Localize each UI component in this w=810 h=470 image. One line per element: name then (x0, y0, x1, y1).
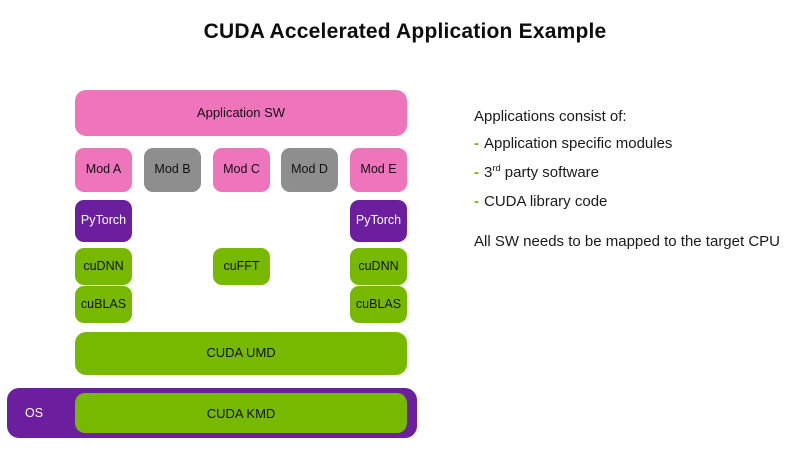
block-pytorch-right: PyTorch (350, 200, 407, 242)
block-os-container: OS CUDA KMD (7, 388, 417, 438)
page-title: CUDA Accelerated Application Example (0, 20, 810, 44)
block-application-sw: Application SW (75, 90, 407, 136)
list-item: -Application specific modules (474, 135, 810, 152)
bullet-dash-icon: - (474, 193, 479, 210)
block-cudnn-left: cuDNN (75, 248, 132, 285)
notes-lead: Applications consist of: (474, 108, 810, 125)
bullet-text: Application specific modules (484, 135, 672, 152)
notes-panel: Applications consist of: -Application sp… (474, 108, 810, 250)
block-os-label: OS (25, 388, 43, 438)
list-item: -3rd party software (474, 164, 810, 181)
block-cublas-right: cuBLAS (350, 286, 407, 323)
block-cuda-kmd: CUDA KMD (75, 393, 407, 433)
bullet-dash-icon: - (474, 135, 479, 152)
slide-canvas: CUDA Accelerated Application Example App… (0, 0, 810, 470)
notes-closing-text: All SW needs to be mapped to the target … (474, 233, 810, 250)
block-module-e: Mod E (350, 148, 407, 192)
block-cudnn-right: cuDNN (350, 248, 407, 285)
bullet-dash-icon: - (474, 164, 479, 181)
ordinal-superscript: rd (492, 163, 500, 173)
block-module-d: Mod D (281, 148, 338, 192)
list-item: -CUDA library code (474, 193, 810, 210)
block-module-a: Mod A (75, 148, 132, 192)
block-pytorch-left: PyTorch (75, 200, 132, 242)
block-module-b: Mod B (144, 148, 201, 192)
block-cufft: cuFFT (213, 248, 270, 285)
notes-bullet-list: -Application specific modules -3rd party… (474, 135, 810, 210)
block-cuda-umd: CUDA UMD (75, 332, 407, 375)
bullet-text-after: party software (501, 164, 599, 181)
block-module-c: Mod C (213, 148, 270, 192)
block-cublas-left: cuBLAS (75, 286, 132, 323)
bullet-text: CUDA library code (484, 193, 607, 210)
